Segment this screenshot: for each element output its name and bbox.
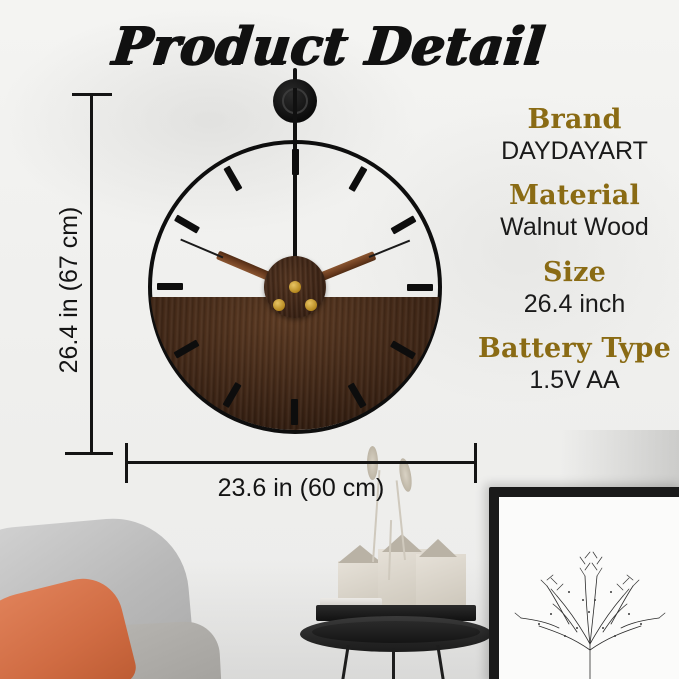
- spec-key-size: Size: [470, 257, 679, 289]
- spec-key-battery: Battery Type: [470, 333, 679, 365]
- hub-screw-left: [273, 299, 285, 311]
- spec-value-brand: DAYDAYART: [470, 136, 679, 167]
- decor-roof-left: [338, 545, 382, 563]
- height-line: [90, 93, 93, 455]
- tree-artwork-svg: [499, 540, 679, 679]
- height-cap-bottom: [65, 452, 113, 455]
- spec-value-battery: 1.5V AA: [470, 365, 679, 396]
- decor-roof-right: [419, 539, 457, 557]
- width-label: 23.6 in (60 cm): [125, 474, 477, 503]
- spec-item-battery: Battery Type 1.5V AA: [470, 333, 679, 395]
- page-title: Product Detail: [109, 16, 586, 82]
- tree-line-art: [499, 540, 679, 679]
- spec-key-brand: Brand: [470, 104, 679, 136]
- decor-object-right: [416, 554, 466, 607]
- side-table-leg-center: [392, 648, 395, 679]
- hub-screw-right: [305, 299, 317, 311]
- spec-item-size: Size 26.4 inch: [470, 257, 679, 319]
- spec-value-material: Walnut Wood: [470, 212, 679, 243]
- width-line: [125, 461, 477, 464]
- height-label: 26.4 in (67 cm): [55, 155, 85, 425]
- product-detail-image: 26.4 in (67 cm) 23.6 in (60 cm) Product …: [0, 0, 679, 679]
- wall-clock: [148, 140, 442, 434]
- spec-item-brand: Brand DAYDAYART: [470, 104, 679, 166]
- spec-list: Brand DAYDAYART Material Walnut Wood Siz…: [470, 104, 679, 409]
- spec-item-material: Material Walnut Wood: [470, 180, 679, 242]
- center-screw: [289, 281, 301, 293]
- side-table-surface: [312, 621, 480, 643]
- spec-value-size: 26.4 inch: [470, 289, 679, 320]
- spec-key-material: Material: [470, 180, 679, 212]
